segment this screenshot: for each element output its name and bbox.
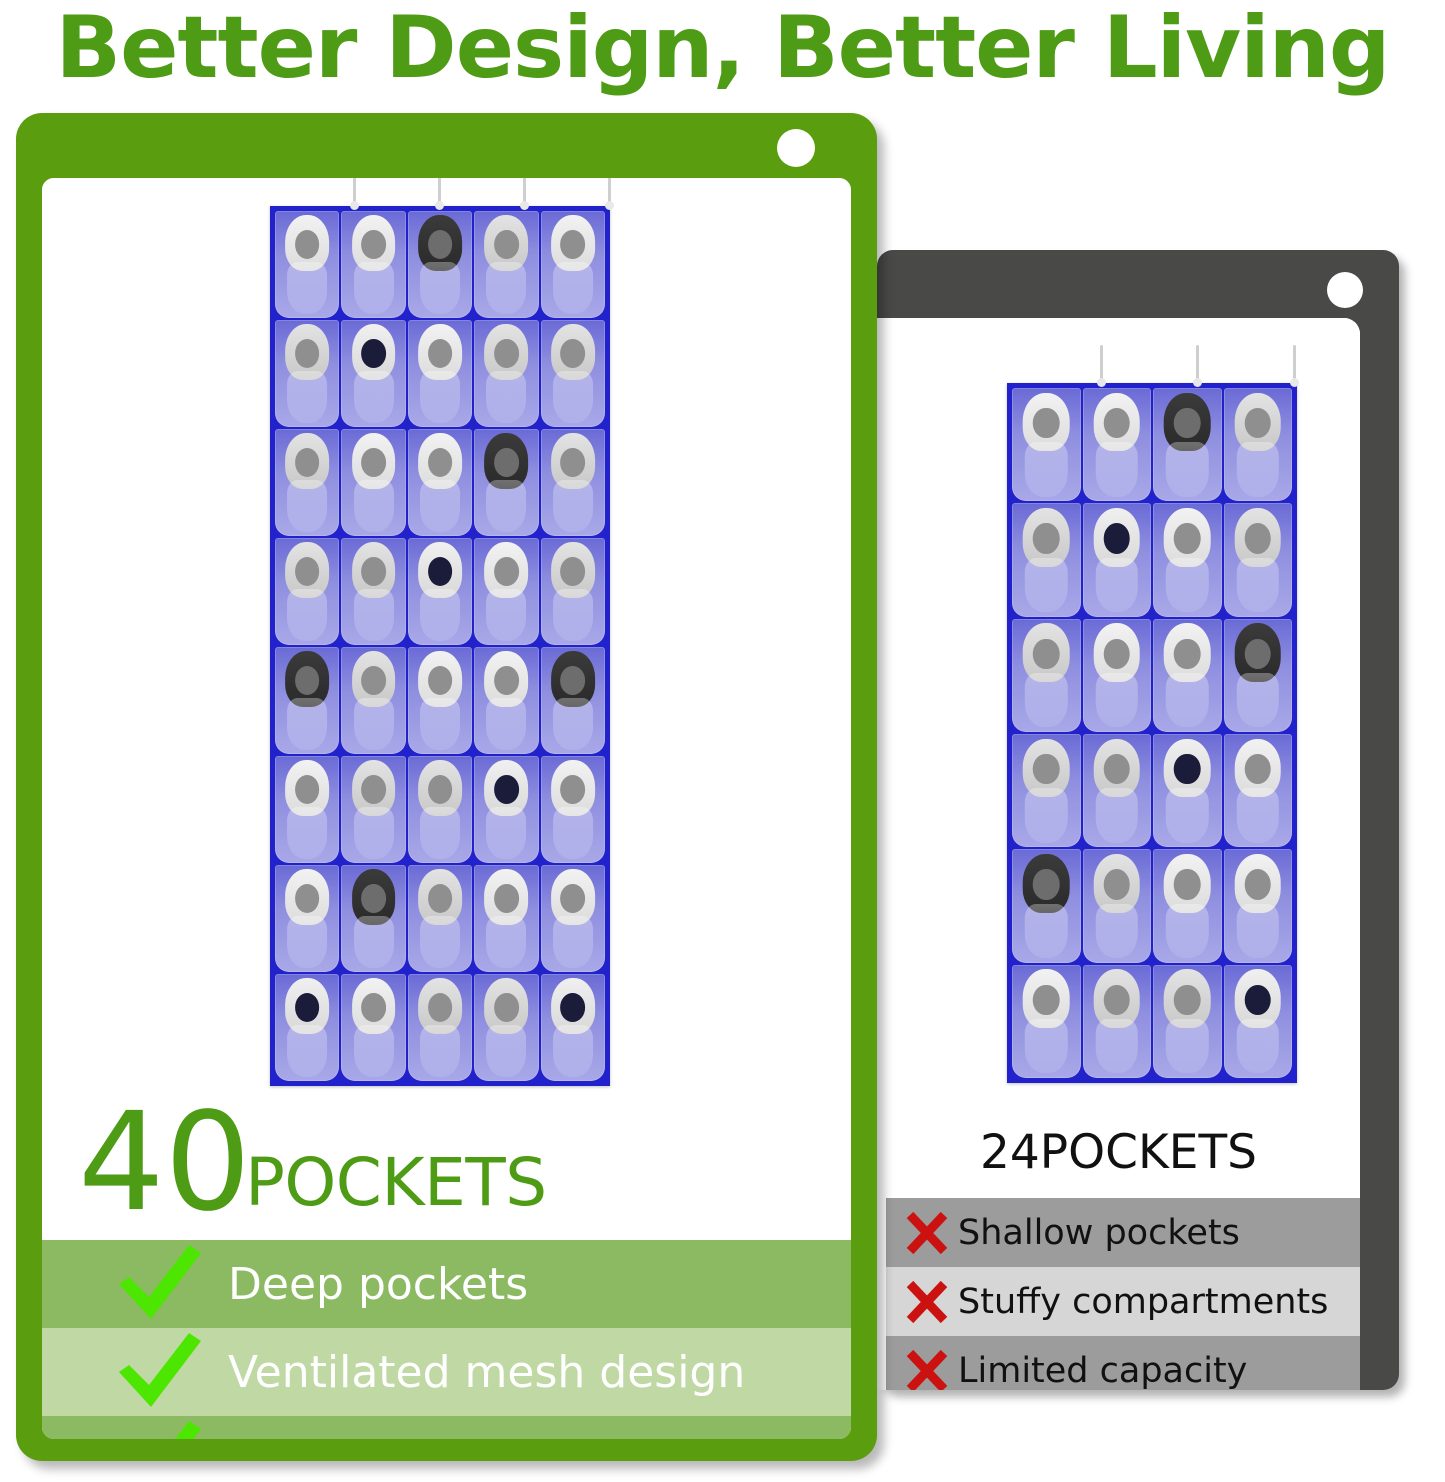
product-feature-label: Large capacity xyxy=(228,1435,552,1440)
organizer-pocket xyxy=(474,865,538,972)
product-feature-row: Ventilated mesh design xyxy=(42,1328,851,1416)
shoe-body xyxy=(354,698,394,749)
organizer-pocket xyxy=(1224,849,1293,962)
shoe-body xyxy=(1096,904,1138,958)
shoe-body xyxy=(553,807,593,858)
organizer-pocket xyxy=(341,211,405,318)
competitor-card: 24POCKETS Shallow pockets xyxy=(877,250,1399,1390)
shoe-body xyxy=(287,262,327,313)
organizer-pocket xyxy=(275,211,339,318)
organizer-pocket xyxy=(341,756,405,863)
shoe-body xyxy=(287,916,327,967)
page-title: Better Design, Better Living xyxy=(0,0,1445,100)
shoe-body xyxy=(1025,1019,1067,1073)
organizer-pocket xyxy=(474,756,538,863)
organizer-pocket xyxy=(541,974,605,1081)
shoe-body xyxy=(1025,442,1067,496)
competitor-feature-row: Shallow pockets xyxy=(886,1198,1360,1267)
shoe-body xyxy=(1237,788,1279,842)
organizer-pocket xyxy=(541,756,605,863)
organizer-pocket xyxy=(1153,965,1222,1078)
organizer-pocket xyxy=(1012,849,1081,962)
organizer-pocket xyxy=(541,865,605,972)
organizer-hook-icon xyxy=(523,178,526,206)
shoe-body xyxy=(1025,673,1067,727)
check-icon xyxy=(104,1419,214,1439)
organizer-pocket xyxy=(1083,619,1152,732)
shoe-body xyxy=(1096,788,1138,842)
organizer-hook-icon xyxy=(608,178,611,206)
shoe-body xyxy=(486,480,526,531)
shoe-body xyxy=(1237,442,1279,496)
organizer-pocket xyxy=(1083,388,1152,501)
cross-icon xyxy=(898,1346,956,1391)
organizer-pocket xyxy=(275,320,339,427)
shoe-body xyxy=(420,480,460,531)
organizer-pocket xyxy=(341,320,405,427)
organizer-pocket xyxy=(541,538,605,645)
shoe-body xyxy=(1166,904,1208,958)
shoe-body xyxy=(354,371,394,422)
organizer-pocket xyxy=(474,320,538,427)
organizer-pocket xyxy=(1083,849,1152,962)
hang-hole-icon xyxy=(777,129,815,167)
shoe-body xyxy=(1166,788,1208,842)
organizer-pocket xyxy=(341,974,405,1081)
cross-icon xyxy=(898,1208,956,1258)
organizer-pocket xyxy=(408,538,472,645)
organizer-pocket xyxy=(1224,734,1293,847)
organizer-pocket xyxy=(275,647,339,754)
pocket-count-unit: POCKETS xyxy=(245,1153,547,1220)
organizer-pocket xyxy=(1153,734,1222,847)
organizer-pocket xyxy=(541,320,605,427)
shoe-body xyxy=(287,698,327,749)
shoe-body xyxy=(486,698,526,749)
organizer-pocket xyxy=(1224,503,1293,616)
shoe-body xyxy=(420,371,460,422)
organizer-hook-icon xyxy=(438,178,441,206)
organizer-pocket xyxy=(1012,503,1081,616)
shoe-body xyxy=(1166,442,1208,496)
product-card: 40 POCKETS Deep pockets Ventilated mesh … xyxy=(16,113,877,1461)
organizer-pocket xyxy=(1224,388,1293,501)
organizer-pocket xyxy=(275,974,339,1081)
product-image xyxy=(42,178,851,1093)
shoe-body xyxy=(287,480,327,531)
shoe-body xyxy=(287,807,327,858)
shoe-body xyxy=(553,916,593,967)
shoe-body xyxy=(1096,673,1138,727)
organizer-pocket xyxy=(474,538,538,645)
organizer-pocket xyxy=(1083,503,1152,616)
shoe-body xyxy=(1096,558,1138,612)
product-feature-label: Deep pockets xyxy=(228,1259,528,1310)
competitor-product-image xyxy=(877,318,1360,1108)
organizer-pocket xyxy=(474,647,538,754)
organizer-hook-icon xyxy=(1293,345,1296,383)
shoe-body xyxy=(486,916,526,967)
shoe-body xyxy=(553,262,593,313)
shoe-body xyxy=(486,589,526,640)
shoe-body xyxy=(1096,442,1138,496)
organizer-pocket xyxy=(1224,965,1293,1078)
competitor-feature-label: Limited capacity xyxy=(958,1351,1247,1391)
shoe-body xyxy=(486,1025,526,1076)
shoe-body xyxy=(420,1025,460,1076)
competitor-feature-label: Stuffy compartments xyxy=(958,1282,1328,1322)
shoe-body xyxy=(1237,558,1279,612)
shoe-body xyxy=(287,1025,327,1076)
shoe-body xyxy=(354,262,394,313)
shoe-body xyxy=(486,807,526,858)
organizer-pocket xyxy=(1012,619,1081,732)
organizer-pocket xyxy=(275,429,339,536)
organizer-pocket xyxy=(1153,503,1222,616)
organizer-pocket xyxy=(275,865,339,972)
organizer-pocket xyxy=(1153,388,1222,501)
organizer-pocket xyxy=(408,211,472,318)
shoe-body xyxy=(354,807,394,858)
organizer-pocket xyxy=(275,756,339,863)
competitor-pocket-count: 24POCKETS xyxy=(877,1108,1360,1198)
organizer-hook-icon xyxy=(1100,345,1103,383)
shoe-body xyxy=(420,589,460,640)
shoe-body xyxy=(1237,673,1279,727)
organizer-pocket xyxy=(1083,965,1152,1078)
organizer-pocket xyxy=(408,429,472,536)
check-icon xyxy=(104,1243,214,1325)
organizer-pocket xyxy=(1083,734,1152,847)
organizer-pocket xyxy=(341,647,405,754)
product-feature-label: Ventilated mesh design xyxy=(228,1347,745,1398)
shoe-body xyxy=(1237,1019,1279,1073)
check-icon xyxy=(104,1331,214,1413)
shoe-body xyxy=(1025,904,1067,958)
shoe-body xyxy=(420,916,460,967)
organizer-pocket xyxy=(408,320,472,427)
shoe-body xyxy=(1025,788,1067,842)
shoe-body xyxy=(1025,558,1067,612)
organizer-pocket xyxy=(341,429,405,536)
organizer-pocket xyxy=(1153,619,1222,732)
shoe-body xyxy=(287,371,327,422)
shoe-body xyxy=(420,698,460,749)
organizer-pocket xyxy=(275,538,339,645)
competitor-feature-row: Stuffy compartments xyxy=(886,1267,1360,1336)
organizer-hook-icon xyxy=(1196,345,1199,383)
shoe-body xyxy=(354,589,394,640)
shoe-body xyxy=(486,371,526,422)
organizer-pocket xyxy=(1224,619,1293,732)
competitor-card-body: 24POCKETS Shallow pockets xyxy=(877,318,1360,1390)
organizer-pocket xyxy=(474,429,538,536)
shoe-body xyxy=(420,262,460,313)
shoe-body xyxy=(486,262,526,313)
shoe-body xyxy=(287,589,327,640)
shoe-body xyxy=(1237,904,1279,958)
competitor-feature-label: Shallow pockets xyxy=(958,1213,1240,1253)
shoe-body xyxy=(354,480,394,531)
organizer-pocket xyxy=(1012,965,1081,1078)
shoe-body xyxy=(1166,1019,1208,1073)
organizer-pocket xyxy=(408,647,472,754)
shoe-body xyxy=(1166,558,1208,612)
shoe-body xyxy=(553,371,593,422)
organizer-pocket xyxy=(1153,849,1222,962)
shoe-body xyxy=(354,916,394,967)
organizer-pocket xyxy=(341,538,405,645)
cross-icon xyxy=(898,1277,956,1327)
organizer-pocket xyxy=(408,756,472,863)
pocket-count-number: 40 xyxy=(78,1106,251,1220)
organizer-pocket xyxy=(408,865,472,972)
organizer-pocket xyxy=(341,865,405,972)
organizer-pocket xyxy=(541,211,605,318)
shoe-body xyxy=(553,698,593,749)
shoe-body xyxy=(1096,1019,1138,1073)
product-card-body: 40 POCKETS Deep pockets Ventilated mesh … xyxy=(42,178,851,1439)
organizer-pocket xyxy=(408,974,472,1081)
product-feature-row: Large capacity xyxy=(42,1416,851,1439)
organizer-pocket xyxy=(1012,388,1081,501)
hang-hole-icon xyxy=(1327,272,1363,308)
shoe-body xyxy=(1166,673,1208,727)
shoe-body xyxy=(553,480,593,531)
organizer-pocket xyxy=(474,211,538,318)
shoe-body xyxy=(553,589,593,640)
organizer-pocket xyxy=(541,647,605,754)
organizer-pocket xyxy=(474,974,538,1081)
organizer-pocket xyxy=(1012,734,1081,847)
organizer-pocket xyxy=(541,429,605,536)
shoe-body xyxy=(420,807,460,858)
product-pocket-count: 40 POCKETS xyxy=(78,1090,547,1220)
product-feature-row: Deep pockets xyxy=(42,1240,851,1328)
shoe-body xyxy=(354,1025,394,1076)
competitor-feature-row: Limited capacity xyxy=(886,1336,1360,1390)
shoe-body xyxy=(553,1025,593,1076)
organizer-hook-icon xyxy=(353,178,356,206)
